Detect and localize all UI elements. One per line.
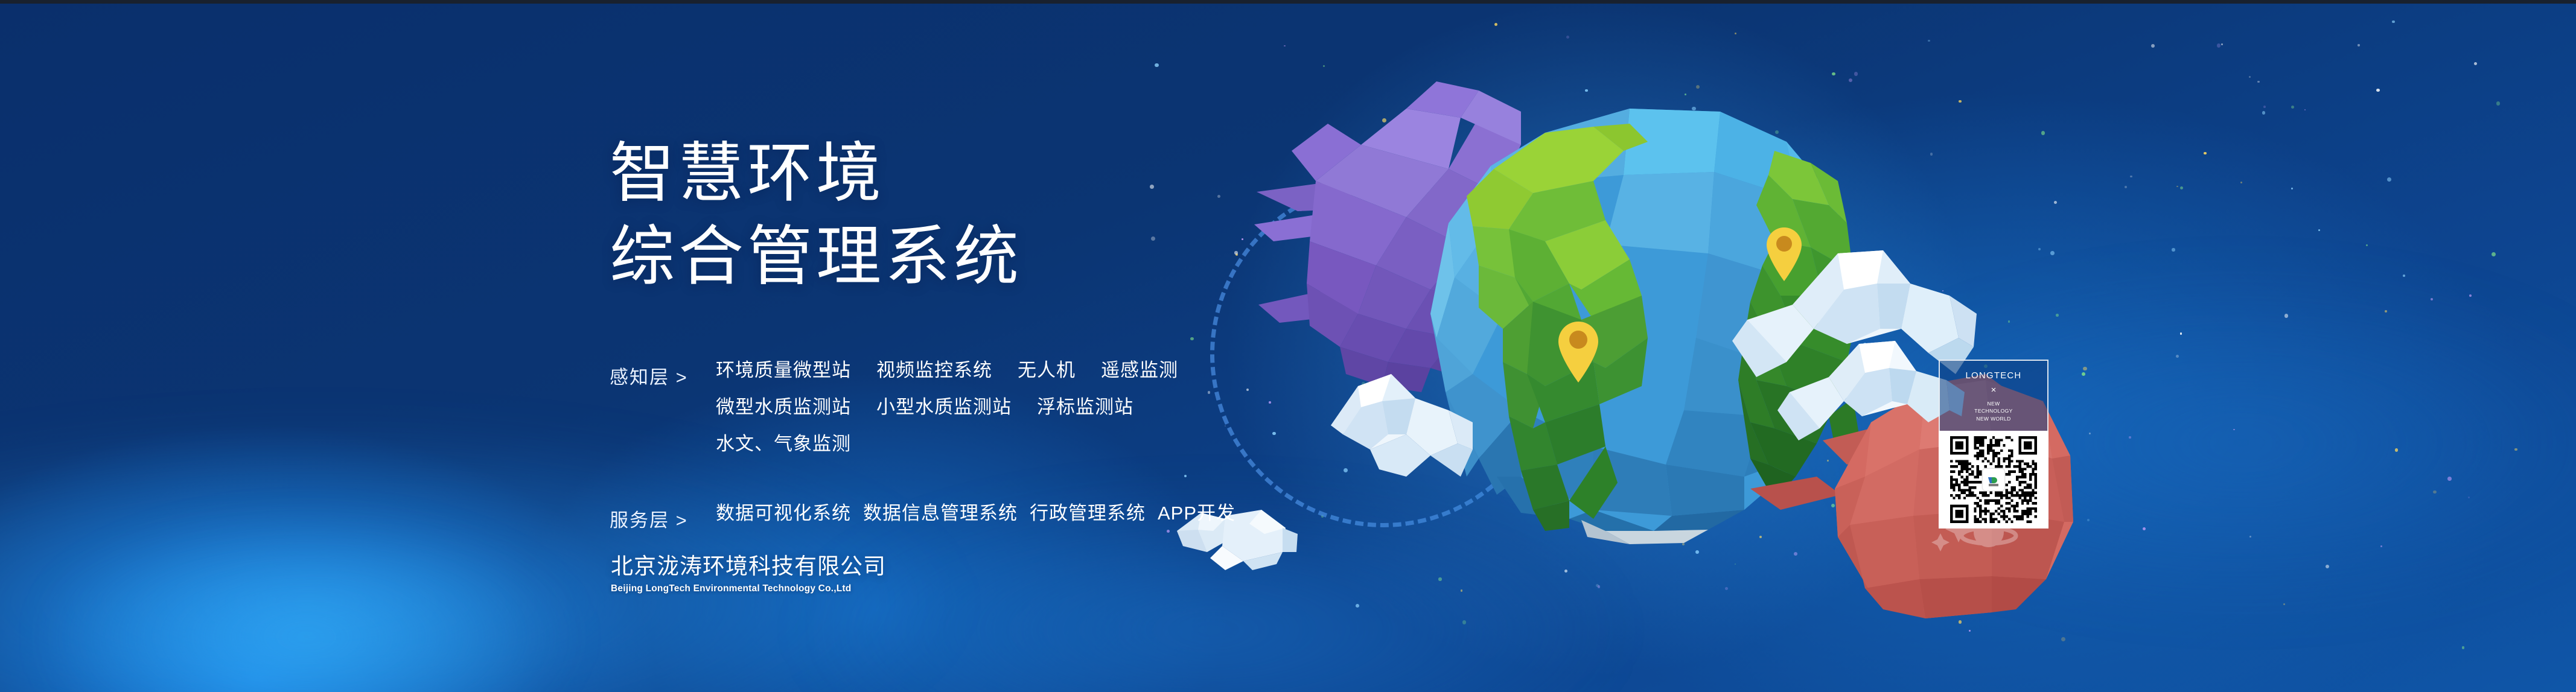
qr-center-logo-icon xyxy=(1983,469,2004,490)
layer-item[interactable]: 无人机 xyxy=(1018,360,1076,381)
layer-row: 服务层 >数据可视化系统数据信息管理系统行政管理系统APP开发 xyxy=(610,504,1467,532)
qr-card-header: LONGTECH × NEW TECHNOLOGY NEW WORLD xyxy=(1939,360,2048,431)
hero-copy: 智慧环境 综合管理系统 感知层 >环境质量微型站视频监控系统无人机遥感监测微型水… xyxy=(610,132,1467,532)
qr-tagline: NEW TECHNOLOGY NEW WORLD xyxy=(1945,400,2042,422)
layer-item[interactable]: 视频监控系统 xyxy=(876,360,992,381)
hero-banner: 智慧环境 综合管理系统 感知层 >环境质量微型站视频监控系统无人机遥感监测微型水… xyxy=(0,0,2576,692)
company-signature: 北京泷涛环境科技有限公司 Beijing LongTech Environmen… xyxy=(611,554,886,594)
layer-list: 感知层 >环境质量微型站视频监控系统无人机遥感监测微型水质监测站小型水质监测站浮… xyxy=(610,361,1467,532)
layer-line: 环境质量微型站视频监控系统无人机遥感监测 xyxy=(716,361,1467,379)
layer-line: 水文、气象监测 xyxy=(716,434,1467,453)
layer-label: 服务层 > xyxy=(610,504,716,532)
company-name-en: Beijing LongTech Environmental Technolog… xyxy=(611,583,886,594)
layer-item[interactable]: 行政管理系统 xyxy=(1030,503,1146,524)
layer-item[interactable]: APP开发 xyxy=(1158,503,1235,524)
layer-lines: 数据可视化系统数据信息管理系统行政管理系统APP开发 xyxy=(716,504,1467,522)
layer-item[interactable]: 遥感监测 xyxy=(1101,360,1178,381)
layer-item[interactable]: 水文、气象监测 xyxy=(716,433,851,454)
layer-line: 微型水质监测站小型水质监测站浮标监测站 xyxy=(716,398,1467,416)
qr-tagline-line-2: TECHNOLOGY xyxy=(1945,407,2042,414)
qr-tagline-line-1: NEW xyxy=(1945,400,2042,407)
layer-row: 感知层 >环境质量微型站视频监控系统无人机遥感监测微型水质监测站小型水质监测站浮… xyxy=(610,361,1467,453)
layer-item[interactable]: 小型水质监测站 xyxy=(876,396,1012,417)
cross-icon: × xyxy=(1945,386,2042,395)
page-title: 智慧环境 综合管理系统 xyxy=(610,132,1467,298)
headline-line-2: 综合管理系统 xyxy=(610,215,1467,298)
headline-line-1: 智慧环境 xyxy=(610,136,885,209)
qr-tagline-line-3: NEW WORLD xyxy=(1945,415,2042,422)
company-name-cn: 北京泷涛环境科技有限公司 xyxy=(611,554,886,580)
layer-item[interactable]: 微型水质监测站 xyxy=(716,396,851,417)
qr-card[interactable]: LONGTECH × NEW TECHNOLOGY NEW WORLD xyxy=(1939,360,2048,529)
layer-item[interactable]: 浮标监测站 xyxy=(1037,396,1133,417)
layer-item[interactable]: 环境质量微型站 xyxy=(716,360,851,381)
layer-item[interactable]: 数据信息管理系统 xyxy=(863,503,1018,524)
layer-label: 感知层 > xyxy=(610,361,716,389)
qr-code-container[interactable] xyxy=(1939,431,2048,529)
layer-item[interactable]: 数据可视化系统 xyxy=(716,503,851,524)
qr-brand-label: LONGTECH xyxy=(1945,370,2042,381)
layer-line: 数据可视化系统数据信息管理系统行政管理系统APP开发 xyxy=(716,504,1467,522)
layer-lines: 环境质量微型站视频监控系统无人机遥感监测微型水质监测站小型水质监测站浮标监测站水… xyxy=(716,361,1467,453)
